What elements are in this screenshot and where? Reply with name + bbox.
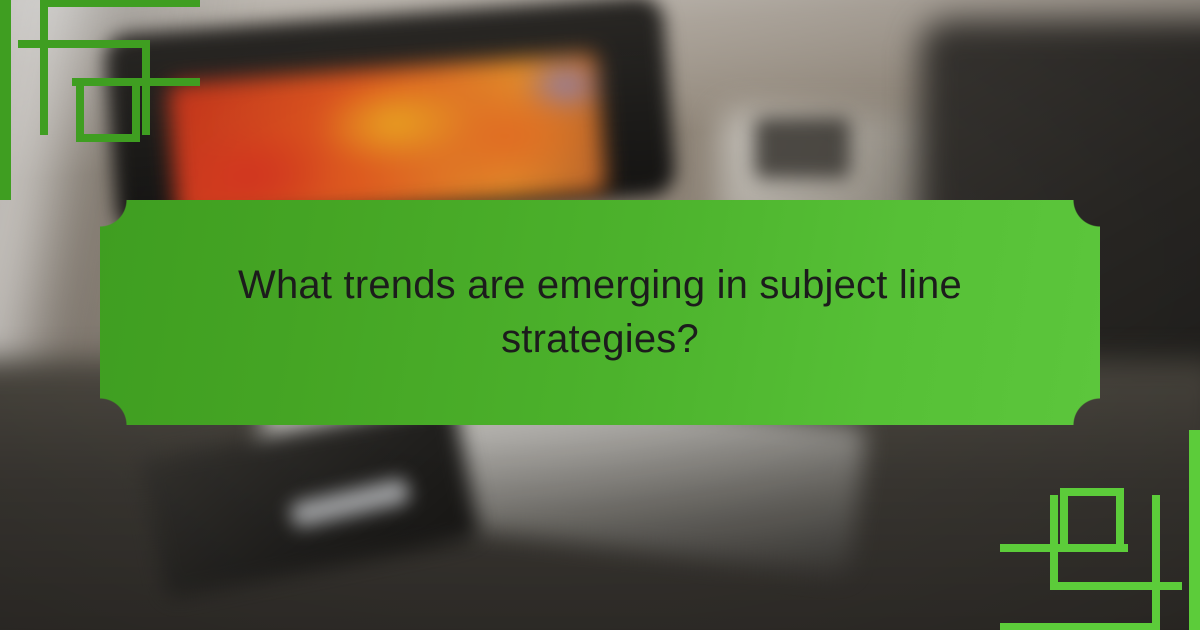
corner-bracket-bottom-right-icon xyxy=(1000,430,1200,630)
corner-bracket-top-left-icon xyxy=(0,0,200,200)
page-title: What trends are emerging in subject line… xyxy=(170,259,1030,365)
headline-banner: What trends are emerging in subject line… xyxy=(100,200,1100,425)
promo-card: What trends are emerging in subject line… xyxy=(0,0,1200,630)
